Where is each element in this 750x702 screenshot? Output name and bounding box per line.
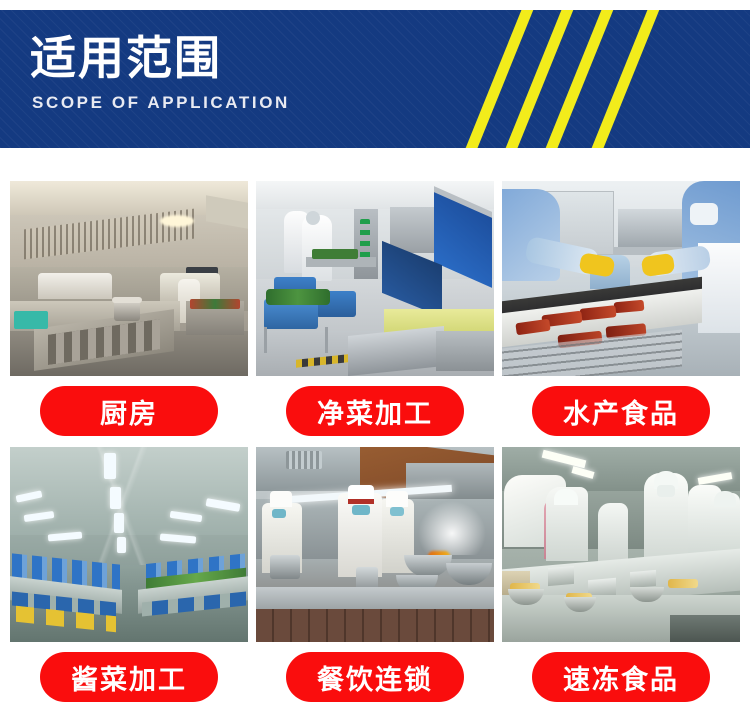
- page-subtitle: SCOPE OF APPLICATION: [32, 93, 290, 113]
- scope-label-wrap-restaurant-chain: 餐饮连锁: [256, 652, 494, 702]
- scope-label-aquatic-food[interactable]: 水产食品: [532, 386, 710, 436]
- scope-label-wrap-frozen-food: 速冻食品: [502, 652, 740, 702]
- scope-label-wrap-kitchen: 厨房: [10, 386, 248, 436]
- scope-of-application-page: 适用范围 SCOPE OF APPLICATION: [0, 0, 750, 702]
- scope-card-fresh-vegetable[interactable]: 净菜加工: [256, 181, 494, 436]
- restaurant-chain-photo: [256, 447, 494, 642]
- aquatic-food-photo: [502, 181, 740, 376]
- scope-label-fresh-vegetable[interactable]: 净菜加工: [286, 386, 464, 436]
- commercial-kitchen-photo: [10, 181, 248, 376]
- scope-card-restaurant-chain[interactable]: 餐饮连锁: [256, 447, 494, 702]
- pickled-vegetable-processing-photo: [10, 447, 248, 642]
- scope-label-kitchen[interactable]: 厨房: [40, 386, 218, 436]
- banner-yellow-stripes: [420, 10, 750, 148]
- scope-label-restaurant-chain[interactable]: 餐饮连锁: [286, 652, 464, 702]
- scope-label-pickled-vegetable[interactable]: 酱菜加工: [40, 652, 218, 702]
- header-banner: 适用范围 SCOPE OF APPLICATION: [0, 10, 750, 148]
- yellow-stripe-3: [532, 10, 628, 148]
- scope-card-pickled-vegetable[interactable]: 酱菜加工: [10, 447, 248, 702]
- scope-card-frozen-food[interactable]: 速冻食品: [502, 447, 740, 702]
- scope-label-wrap-fresh-vegetable: 净菜加工: [256, 386, 494, 436]
- scope-card-kitchen[interactable]: 厨房: [10, 181, 248, 436]
- scope-label-wrap-pickled-vegetable: 酱菜加工: [10, 652, 248, 702]
- scope-label-wrap-aquatic-food: 水产食品: [502, 386, 740, 436]
- fresh-vegetable-processing-photo: [256, 181, 494, 376]
- frozen-food-photo: [502, 447, 740, 642]
- scope-card-aquatic-food[interactable]: 水产食品: [502, 181, 740, 436]
- application-scope-grid: 厨房: [10, 181, 742, 702]
- banner-text-block: 适用范围 SCOPE OF APPLICATION: [30, 32, 290, 113]
- page-title: 适用范围: [30, 32, 290, 85]
- scope-label-frozen-food[interactable]: 速冻食品: [532, 652, 710, 702]
